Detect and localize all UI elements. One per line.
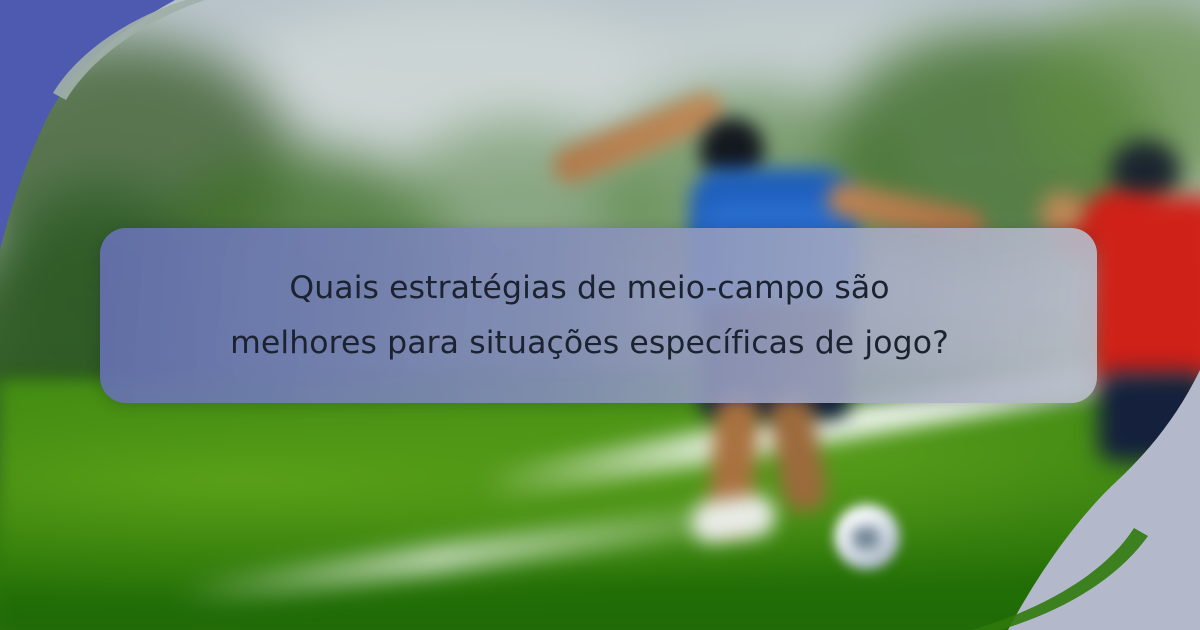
- question-text: Quais estratégias de meio-campo são melh…: [195, 261, 985, 371]
- bottom-right-swoosh-shape: [1008, 370, 1200, 630]
- question-card: Quais estratégias de meio-campo são melh…: [100, 228, 1097, 403]
- top-left-swoosh-shape: [0, 0, 175, 250]
- social-card-canvas: Quais estratégias de meio-campo são melh…: [0, 0, 1200, 630]
